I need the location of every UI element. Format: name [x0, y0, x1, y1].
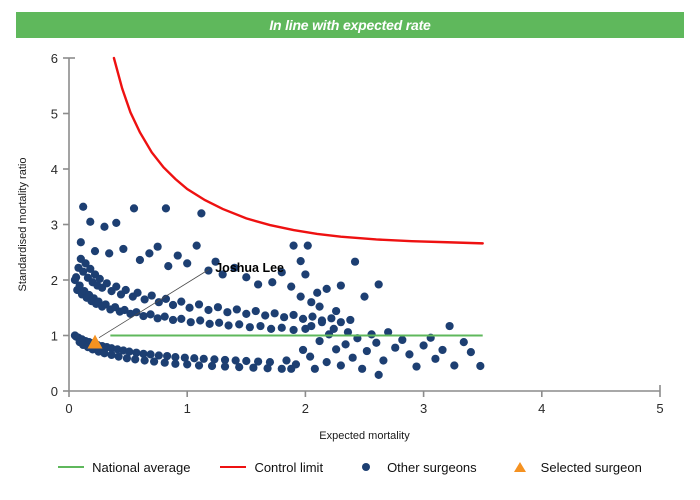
- data-point: [332, 345, 340, 353]
- data-point: [315, 337, 323, 345]
- data-point: [235, 320, 243, 328]
- data-point: [233, 305, 241, 313]
- data-point: [246, 323, 254, 331]
- y-tick-label-4: 4: [51, 162, 58, 177]
- data-point: [330, 325, 338, 333]
- data-point: [169, 301, 177, 309]
- data-point: [131, 355, 139, 363]
- data-point: [183, 259, 191, 267]
- data-point: [164, 262, 172, 270]
- data-point: [100, 223, 108, 231]
- data-point: [323, 358, 331, 366]
- legend-item-control-limit[interactable]: Control limit: [220, 460, 323, 475]
- annotation-label: Joshua Lee: [215, 261, 284, 275]
- data-point: [306, 352, 314, 360]
- data-point: [122, 286, 130, 294]
- data-point: [107, 351, 115, 359]
- data-point: [332, 307, 340, 315]
- data-point: [204, 266, 212, 274]
- y-tick-label-5: 5: [51, 107, 58, 122]
- data-point: [193, 241, 201, 249]
- status-banner: In line with expected rate: [16, 12, 684, 38]
- data-point: [263, 364, 271, 372]
- data-point: [183, 360, 191, 368]
- x-tick-label-0: 0: [65, 401, 72, 416]
- legend-label: National average: [92, 460, 190, 475]
- data-point: [86, 218, 94, 226]
- data-point: [363, 347, 371, 355]
- data-point: [190, 354, 198, 362]
- data-point: [405, 350, 413, 358]
- data-point: [375, 280, 383, 288]
- data-point: [349, 354, 357, 362]
- data-point: [412, 362, 420, 370]
- data-point: [161, 313, 169, 321]
- data-point: [337, 361, 345, 369]
- data-point: [289, 311, 297, 319]
- data-point: [96, 275, 104, 283]
- data-point: [261, 311, 269, 319]
- data-point: [297, 293, 305, 301]
- data-point: [358, 365, 366, 373]
- data-point: [150, 357, 158, 365]
- legend-item-other-surgeons[interactable]: Other surgeons: [353, 460, 477, 475]
- data-point: [315, 303, 323, 311]
- data-point: [398, 336, 406, 344]
- data-point: [242, 357, 250, 365]
- data-point: [214, 303, 222, 311]
- data-point: [154, 314, 162, 322]
- data-point: [123, 354, 131, 362]
- data-point: [215, 319, 223, 327]
- data-point: [267, 325, 275, 333]
- data-point: [130, 204, 138, 212]
- data-point: [346, 316, 354, 324]
- data-point: [132, 308, 140, 316]
- data-point: [141, 295, 149, 303]
- data-point: [360, 293, 368, 301]
- data-point: [323, 285, 331, 293]
- data-point: [313, 289, 321, 297]
- data-point: [208, 362, 216, 370]
- data-point: [146, 350, 154, 358]
- data-point: [148, 291, 156, 299]
- data-point: [139, 312, 147, 320]
- data-point: [278, 324, 286, 332]
- data-point: [197, 209, 205, 217]
- data-point: [162, 204, 170, 212]
- data-point: [242, 310, 250, 318]
- data-point: [91, 247, 99, 255]
- data-point: [337, 318, 345, 326]
- navy-dot-icon: [353, 461, 379, 473]
- data-point: [318, 318, 326, 326]
- data-point: [307, 298, 315, 306]
- y-tick-label-3: 3: [51, 218, 58, 233]
- chart-legend: National averageControl limitOther surge…: [0, 452, 700, 482]
- data-point: [282, 356, 290, 364]
- orange-triangle-icon: [514, 462, 526, 472]
- legend-item-national-average[interactable]: National average: [58, 460, 190, 475]
- funnel-plot-page: In line with expected rate 0123456012345…: [0, 0, 700, 500]
- data-point: [431, 355, 439, 363]
- data-point: [289, 326, 297, 334]
- data-point: [169, 316, 177, 324]
- banner-title: In line with expected rate: [269, 17, 430, 33]
- data-point: [307, 322, 315, 330]
- y-tick-label-6: 6: [51, 51, 58, 66]
- data-point: [112, 283, 120, 291]
- data-point: [446, 322, 454, 330]
- x-tick-label-2: 2: [302, 401, 309, 416]
- legend-item-selected-surgeon[interactable]: Selected surgeon: [507, 460, 642, 475]
- data-point: [304, 241, 312, 249]
- y-tick-label-0: 0: [51, 384, 58, 399]
- data-point: [292, 360, 300, 368]
- data-point: [311, 365, 319, 373]
- data-point: [351, 258, 359, 266]
- navy-dot-icon: [362, 463, 370, 471]
- x-axis-title: Expected mortality: [319, 430, 410, 442]
- data-point: [301, 270, 309, 278]
- data-point: [450, 361, 458, 369]
- data-point: [100, 349, 108, 357]
- data-point: [379, 356, 387, 364]
- control-limit-curve: [114, 58, 483, 243]
- data-point: [185, 304, 193, 312]
- data-point: [204, 306, 212, 314]
- data-point: [145, 249, 153, 257]
- data-point: [105, 249, 113, 257]
- data-point: [115, 352, 123, 360]
- x-tick-label-5: 5: [656, 401, 663, 416]
- data-point: [200, 355, 208, 363]
- data-point: [119, 245, 127, 253]
- data-point: [177, 315, 185, 323]
- data-point: [467, 348, 475, 356]
- legend-label: Other surgeons: [387, 460, 477, 475]
- data-point: [195, 361, 203, 369]
- data-point: [77, 238, 85, 246]
- data-point: [297, 257, 305, 265]
- data-point: [268, 278, 276, 286]
- data-point: [224, 321, 232, 329]
- data-point: [196, 316, 204, 324]
- legend-label: Selected surgeon: [541, 460, 642, 475]
- data-point: [195, 300, 203, 308]
- data-point: [252, 307, 260, 315]
- data-point: [133, 289, 141, 297]
- y-tick-label-2: 2: [51, 273, 58, 288]
- other-surgeons-series: [71, 203, 485, 379]
- data-point: [112, 219, 120, 227]
- data-point: [223, 308, 231, 316]
- data-point: [174, 251, 182, 259]
- legend-label: Control limit: [254, 460, 323, 475]
- x-tick-label-3: 3: [420, 401, 427, 416]
- green-line-icon: [58, 466, 84, 469]
- data-point: [280, 313, 288, 321]
- data-point: [308, 313, 316, 321]
- data-point: [289, 241, 297, 249]
- orange-triangle-icon: [507, 461, 533, 473]
- data-point: [154, 243, 162, 251]
- data-point: [171, 360, 179, 368]
- data-point: [271, 309, 279, 317]
- chart-area: 0123456012345Expected mortalityStandardi…: [0, 40, 700, 450]
- red-line-icon: [220, 461, 246, 473]
- data-point: [367, 330, 375, 338]
- data-point: [254, 280, 262, 288]
- data-point: [177, 298, 185, 306]
- data-point: [136, 256, 144, 264]
- data-point: [187, 318, 195, 326]
- red-line-icon: [220, 466, 246, 469]
- data-point: [249, 364, 257, 372]
- data-point: [438, 346, 446, 354]
- data-point: [341, 340, 349, 348]
- green-line-icon: [58, 461, 84, 473]
- data-point: [287, 283, 295, 291]
- data-point: [476, 362, 484, 370]
- data-point: [221, 362, 229, 370]
- funnel-plot-svg: 0123456012345Expected mortalityStandardi…: [0, 40, 700, 450]
- data-point: [460, 338, 468, 346]
- data-point: [372, 339, 380, 347]
- data-point: [299, 346, 307, 354]
- data-point: [337, 281, 345, 289]
- data-point: [235, 363, 243, 371]
- data-point: [79, 203, 87, 211]
- data-point: [327, 314, 335, 322]
- data-point: [146, 310, 154, 318]
- data-point: [103, 279, 111, 287]
- data-point: [420, 341, 428, 349]
- data-point: [256, 322, 264, 330]
- data-point: [375, 371, 383, 379]
- data-point: [278, 365, 286, 373]
- data-point: [299, 315, 307, 323]
- y-axis-title: Standardised mortality ratio: [17, 158, 29, 292]
- data-point: [161, 359, 169, 367]
- y-tick-label-1: 1: [51, 329, 58, 344]
- data-point: [141, 356, 149, 364]
- data-point: [206, 320, 214, 328]
- x-tick-label-1: 1: [184, 401, 191, 416]
- data-point: [391, 344, 399, 352]
- x-tick-label-4: 4: [538, 401, 545, 416]
